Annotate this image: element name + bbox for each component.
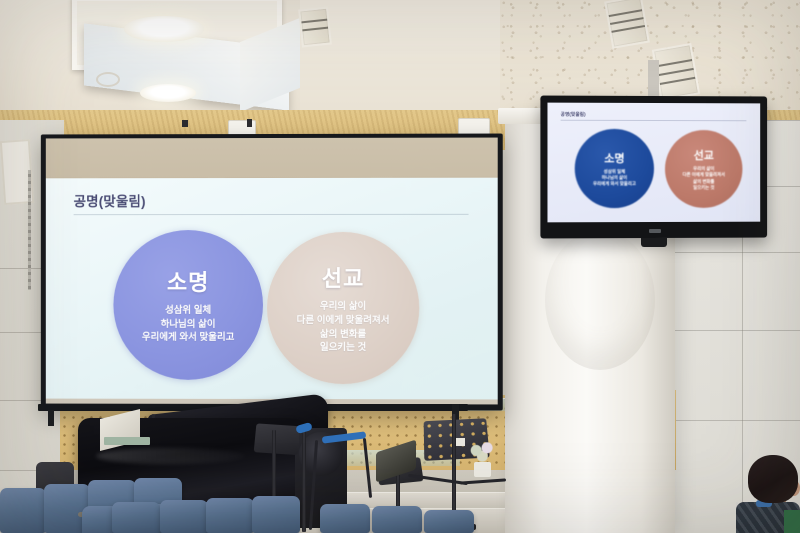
ceiling-bracket-2 — [247, 119, 252, 127]
screen-hook-left — [48, 410, 54, 426]
tv-bubble-somyeong: 소명 성삼위 일체 하나님의 삶이 우리에게 와서 맞울리고 — [575, 129, 654, 208]
tv-bubble-line: 다른 이에게 맞울려져서 — [682, 172, 725, 178]
chair-row4-2[interactable] — [372, 506, 422, 533]
ceiling-air-vent-1 — [604, 0, 650, 49]
ceiling-air-vent-3 — [298, 7, 332, 48]
wall-grid-line-h5 — [660, 420, 800, 421]
flower-vase — [474, 462, 491, 477]
auditorium-screenshot: 공명(맞울림) 소명 성삼위 일체 하나님의 삶이 우리에게 와서 맞울리고 선… — [0, 0, 800, 533]
projection-screen: 공명(맞울림) 소명 성삼위 일체 하나님의 삶이 우리에게 와서 맞울리고 선… — [41, 134, 503, 411]
music-stand-desk-4 — [254, 423, 300, 455]
ceiling-soffit-left — [0, 0, 70, 120]
tv-slide-title: 공명(맞울림) — [561, 112, 586, 118]
ceiling-soffit-center — [300, 0, 500, 118]
tv-slide-divider — [561, 120, 747, 122]
child-head — [748, 455, 798, 503]
tv-bubble-line: 일으키는 것 — [682, 185, 725, 191]
chair-row3-1[interactable] — [112, 502, 160, 533]
presentation-slide: 공명(맞울림) 소명 성삼위 일체 하나님의 삶이 우리에게 와서 맞울리고 선… — [46, 178, 498, 405]
bubble-line: 다른 이에게 맞울려져서 — [297, 314, 390, 328]
tv-mount-arm — [648, 60, 659, 100]
wall-grid-line-h3 — [660, 252, 800, 253]
chair-row1-1[interactable] — [0, 488, 46, 533]
tv-bubble-heading: 소명 — [604, 150, 624, 166]
slide-title: 공명(맞울림) — [74, 190, 146, 210]
tv-bubble-line: 우리에게 와서 맞울리고 — [593, 181, 636, 187]
child-shirt — [784, 510, 800, 533]
tv-bottom-mount — [641, 238, 667, 247]
ceiling-downlight-2 — [140, 84, 196, 102]
bubble-line: 하나님의 삶이 — [142, 318, 234, 332]
screen-blackout-strip — [46, 138, 498, 181]
mic-stand-pole — [302, 430, 306, 532]
sheet-music — [104, 437, 150, 445]
chair-row3-4[interactable] — [252, 496, 300, 533]
piano-reflection — [96, 448, 246, 464]
music-stand-clip — [455, 438, 465, 446]
slide-title-divider — [74, 214, 469, 215]
bubble-line: 성삼위 일체 — [142, 304, 234, 318]
hatch-handle[interactable] — [96, 72, 120, 87]
wall-mounted-tv: 공명(맞울림) 소명 성삼위 일체 하나님의 삶이 우리에게 와서 맞울리고 선… — [540, 96, 767, 239]
wall-grid-line-h4 — [660, 330, 800, 331]
bubble-line: 삶의 변화를 — [297, 328, 390, 342]
bubble-line: 일으키는 것 — [297, 341, 390, 355]
chair-row3-2[interactable] — [160, 500, 208, 533]
slide-bubble-somyeong: 소명 성삼위 일체 하나님의 삶이 우리에게 와서 맞울리고 — [113, 230, 263, 380]
tv-bubble-heading: 선교 — [694, 147, 714, 163]
tv-display-panel: 공명(맞울림) 소명 성삼위 일체 하나님의 삶이 우리에게 와서 맞울리고 선… — [547, 103, 760, 223]
ceiling-bracket-1 — [182, 120, 188, 127]
projection-screen-surface: 공명(맞울림) 소명 성삼위 일체 하나님의 삶이 우리에게 와서 맞울리고 선… — [46, 138, 498, 405]
column-shading — [545, 230, 655, 370]
bubble-heading: 소명 — [167, 265, 209, 297]
bubble-heading: 선교 — [322, 261, 365, 293]
ceiling-downlight-1 — [124, 16, 204, 42]
ceiling-mount-fixture-2 — [458, 118, 490, 135]
bubble-line: 우리의 삶이 — [297, 300, 390, 314]
chair-row4-3[interactable] — [424, 510, 474, 533]
tv-bubble-seongyo: 선교 우리의 삶이 다른 이에게 맞울려져서 삶의 변화를 일으키는 것 — [665, 130, 742, 208]
bubble-line: 우리에게 와서 맞울리고 — [142, 331, 234, 345]
hanging-chain — [28, 170, 31, 290]
slide-bubble-seongyo: 선교 우리의 삶이 다른 이에게 맞울려져서 삶의 변화를 일으키는 것 — [267, 232, 419, 384]
tv-brand-logo — [649, 229, 661, 233]
chair-row4-1[interactable] — [320, 504, 370, 533]
chair-row3-3[interactable] — [206, 498, 254, 533]
